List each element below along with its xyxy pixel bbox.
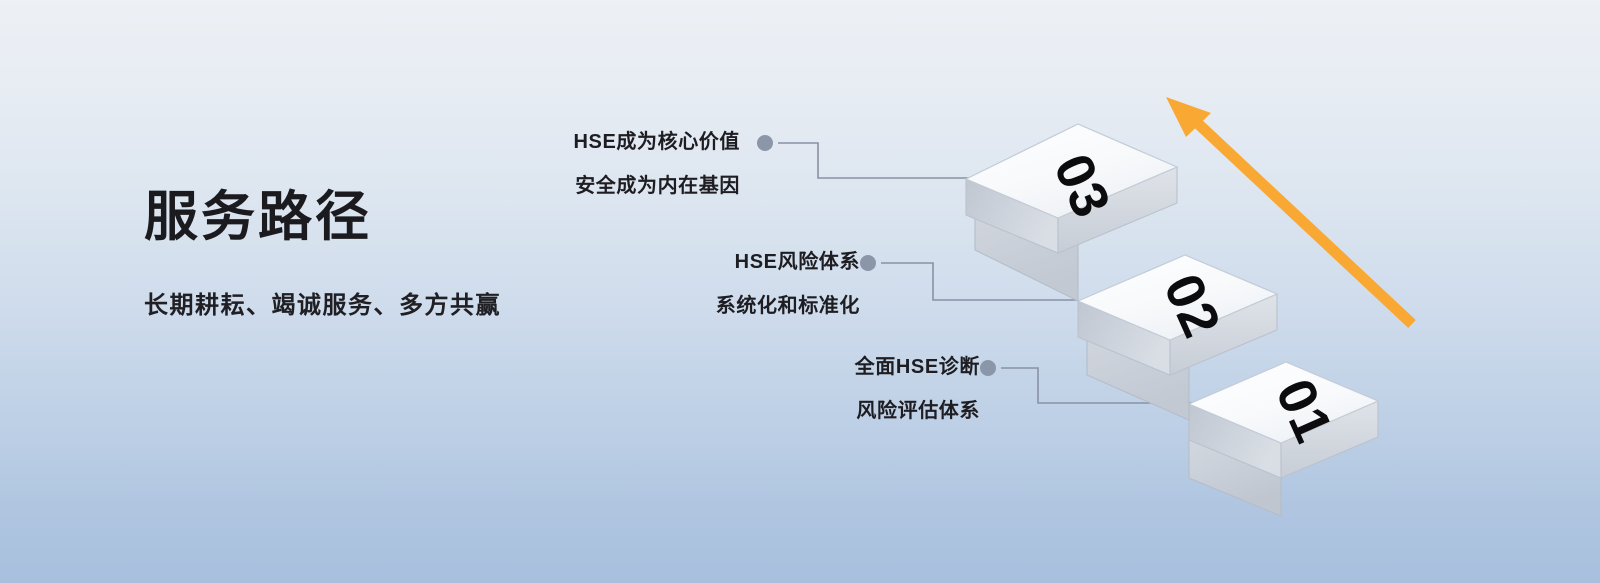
staircase-diagram: 01 02 03: [0, 0, 1600, 583]
step-block-01[interactable]: 01: [1189, 362, 1378, 516]
connector-02-dot: [860, 255, 876, 271]
slide-canvas: 服务路径 长期耕耘、竭诚服务、多方共赢 HSE成为核心价值 安全成为内在基因 H…: [0, 0, 1600, 583]
connector-03: [757, 135, 975, 178]
connector-03-line: [778, 143, 975, 178]
connector-01-dot: [980, 360, 996, 376]
connector-03-dot: [757, 135, 773, 151]
